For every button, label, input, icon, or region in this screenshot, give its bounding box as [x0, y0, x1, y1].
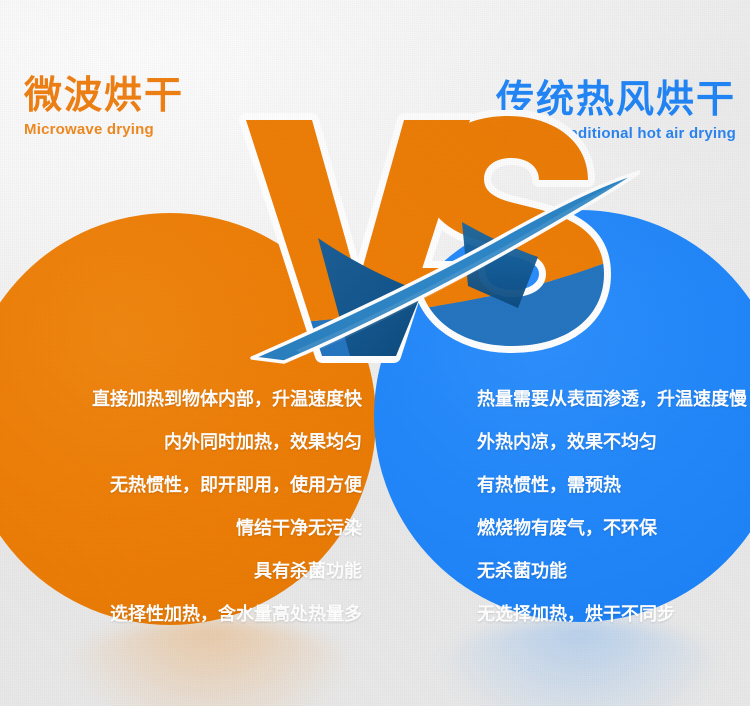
microwave-feature-list: 直接加热到物体内部，升温速度快 内外同时加热，效果均匀 无热惯性，即开即用，使用…	[0, 378, 362, 636]
list-item: 具有杀菌功能	[40, 550, 362, 593]
list-item: 直接加热到物体内部，升温速度快	[40, 378, 362, 421]
list-item: 情结干净无污染	[40, 507, 362, 550]
list-item: 热量需要从表面渗透，升温速度慢	[477, 378, 750, 421]
list-item: 无选择加热，烘干不同步	[477, 593, 750, 636]
list-item: 内外同时加热，效果均匀	[40, 421, 362, 464]
left-title-en: Microwave drying	[24, 121, 184, 138]
list-item: 选择性加热，含水量高处热量多	[40, 593, 362, 636]
hot-air-feature-list: 热量需要从表面渗透，升温速度慢 外热内凉，效果不均匀 有热惯性，需预热 燃烧物有…	[437, 378, 750, 636]
list-item: 燃烧物有废气，不环保	[477, 507, 750, 550]
vs-emblem	[200, 110, 640, 370]
list-item: 有热惯性，需预热	[477, 464, 750, 507]
list-item: 无热惯性，即开即用，使用方便	[40, 464, 362, 507]
left-heading: 微波烘干 Microwave drying	[24, 76, 184, 138]
list-item: 无杀菌功能	[477, 550, 750, 593]
comparison-infographic: 微波烘干 Microwave drying 传统热风烘干 Traditional…	[0, 0, 750, 706]
list-item: 外热内凉，效果不均匀	[477, 421, 750, 464]
left-title-cn: 微波烘干	[24, 76, 184, 116]
